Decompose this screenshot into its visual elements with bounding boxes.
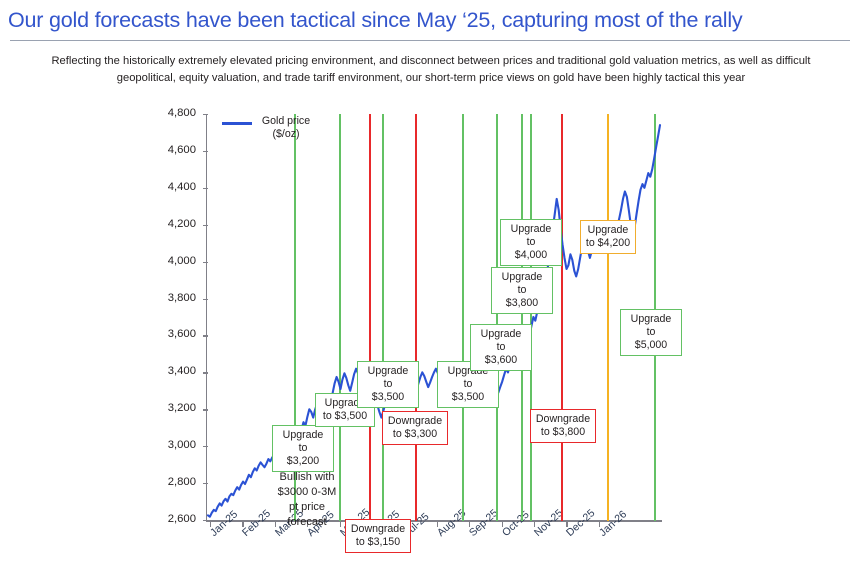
annotation-downgrade-3300: Downgrade to $3,300 — [382, 411, 448, 445]
page-subtitle: Reflecting the historically extremely el… — [38, 53, 824, 87]
chart-container: 2,6002,8003,0003,2003,4003,6003,8004,000… — [0, 100, 860, 578]
annotation-upgrade-3500-b: Upgrade to $3,500 — [357, 361, 419, 408]
gold-price-series — [0, 100, 860, 578]
annotation-upgrade-4200: Upgrade to $4,200 — [580, 220, 636, 254]
page-title: Our gold forecasts have been tactical si… — [8, 6, 856, 34]
slide-root: Our gold forecasts have been tactical si… — [0, 0, 860, 578]
annotation-upgrade-3600: Upgrade to $3,600 — [470, 324, 532, 371]
annotation-upgrade-4000: Upgrade to $4,000 — [500, 219, 562, 266]
legend-swatch — [222, 122, 252, 125]
annotation-upgrade-3800: Upgrade to $3,800 — [491, 267, 553, 314]
annotation-upgrade-3200: Upgrade to $3,200 — [272, 425, 334, 472]
title-divider — [10, 40, 850, 41]
chart-note-0: Bullish with $3000 0-3M pt price forecas… — [268, 470, 346, 530]
legend-label: Gold price ($/oz) — [255, 115, 317, 141]
annotation-downgrade-3150: Downgrade to $3,150 — [345, 519, 411, 553]
annotation-downgrade-3800: Downgrade to $3,800 — [530, 409, 596, 443]
annotation-upgrade-5000: Upgrade to $5,000 — [620, 309, 682, 356]
